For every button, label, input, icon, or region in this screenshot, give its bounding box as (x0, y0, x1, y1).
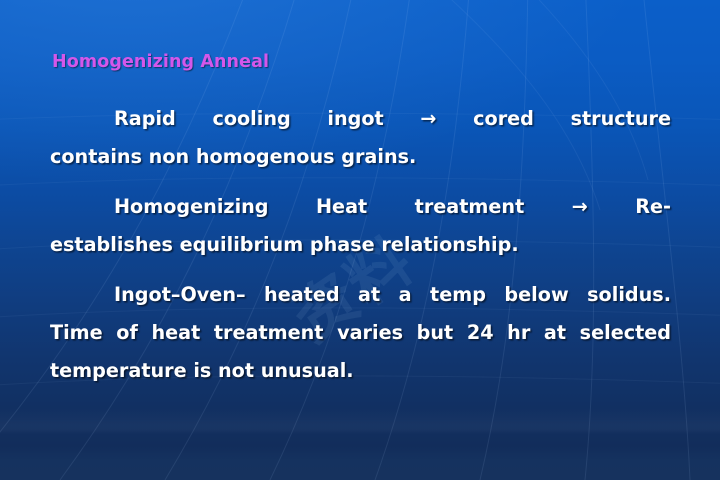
paragraph-3-line-2: Time of heat treatment varies but 24 hr … (50, 314, 671, 352)
paragraph-3-line-3: temperature is not unusual. (50, 352, 671, 390)
slide-content: Homogenizing Anneal Rapid cooling ingot … (0, 0, 720, 480)
page-title: Homogenizing Anneal (52, 52, 269, 72)
slide-body: Rapid cooling ingot → cored structure co… (50, 100, 671, 390)
body-paragraph-1: Rapid cooling ingot → cored structure co… (50, 100, 671, 176)
body-paragraph-2: Homogenizing Heat treatment → Re- establ… (50, 188, 671, 264)
presentation-slide: 资料 Homogenizing Anneal Rapid cooling ing… (0, 0, 720, 480)
body-paragraph-3: Ingot–Oven– heated at a temp below solid… (50, 276, 671, 390)
paragraph-1-line-1: Rapid cooling ingot → cored structure (50, 100, 671, 138)
paragraph-1-line-2: contains non homogenous grains. (50, 138, 671, 176)
paragraph-3-line-1: Ingot–Oven– heated at a temp below solid… (50, 276, 671, 314)
paragraph-2-line-1: Homogenizing Heat treatment → Re- (50, 188, 671, 226)
paragraph-2-line-2: establishes equilibrium phase relationsh… (50, 226, 671, 264)
